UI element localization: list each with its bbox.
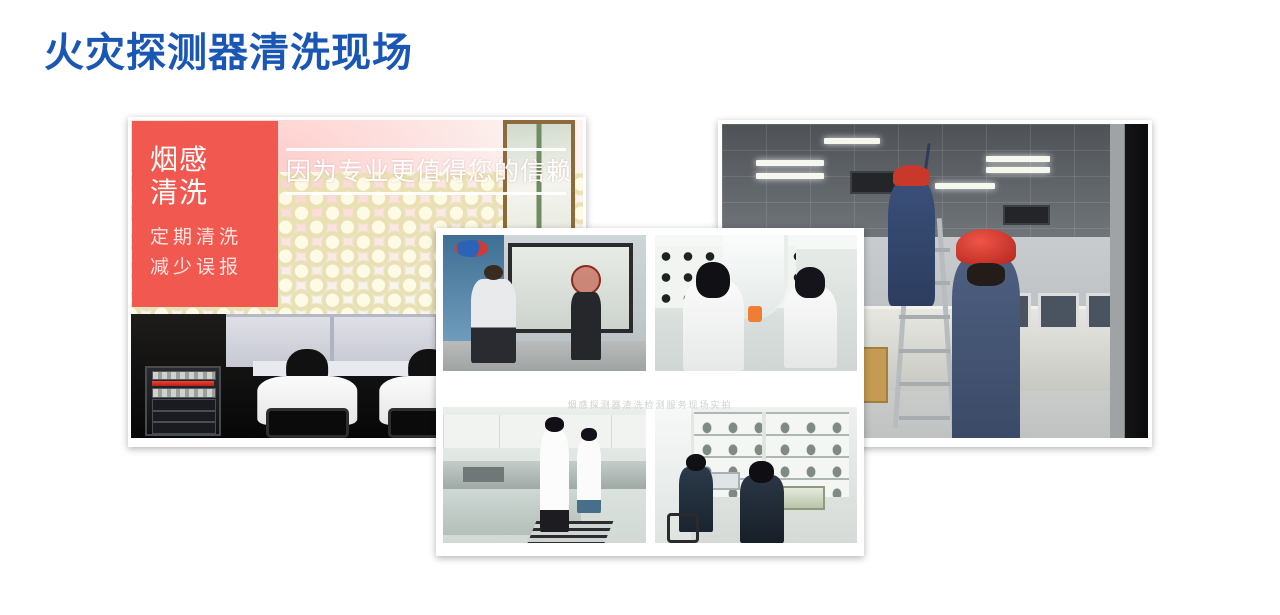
console-display-unit xyxy=(1038,293,1079,331)
ceiling-light xyxy=(756,160,824,166)
worker-helmet xyxy=(893,165,930,185)
worker-background xyxy=(571,292,601,360)
ladder-step xyxy=(899,382,950,386)
company-logo-icon xyxy=(455,240,487,256)
slogan-text: 因为专业更值得您的信赖 xyxy=(286,157,566,187)
grid-photo-storage-shelves-testing[interactable] xyxy=(655,407,858,543)
tester-seated-right xyxy=(740,475,785,543)
ceiling-light xyxy=(935,183,995,189)
door-frame xyxy=(1110,124,1148,438)
worker-with-red-helmet xyxy=(952,259,1020,438)
promo-badge[interactable]: 烟感 清洗 定期清洗 减少误报 xyxy=(132,121,278,307)
cabinet-display-unit xyxy=(152,399,215,410)
promo-headline-line1: 烟感 xyxy=(150,143,278,176)
test-instrument xyxy=(780,486,825,510)
ladder-step xyxy=(899,315,950,319)
promo-headline-line2: 清洗 xyxy=(150,176,278,209)
wall-seal-emblem xyxy=(571,265,601,295)
slogan-overlay: 因为专业更值得您的信赖 xyxy=(286,148,566,195)
ceiling-air-vent xyxy=(1003,205,1050,225)
lab-worker-front xyxy=(540,431,568,532)
operator-seated-left xyxy=(683,281,744,371)
tester-chair xyxy=(667,513,699,543)
laptop-computer xyxy=(709,472,739,490)
slogan-rule-top xyxy=(286,148,566,151)
cabinet-keypad-unit xyxy=(152,422,215,433)
cabinet-button-panel xyxy=(152,388,215,397)
inspector-foreground xyxy=(471,279,516,363)
ladder-step xyxy=(899,349,950,353)
grid-photo-cleaning-bench[interactable] xyxy=(443,407,646,543)
page-title: 火灾探测器清洗现场 xyxy=(44,28,413,78)
cabinet-alarm-strip xyxy=(152,381,213,386)
slogan-rule-bottom xyxy=(286,192,566,195)
ceiling-light xyxy=(824,138,879,144)
promo-subline-2: 减少误报 xyxy=(150,252,278,282)
worker-head xyxy=(967,263,1005,286)
cabinet-display-unit xyxy=(152,411,215,422)
photo-grid xyxy=(443,235,857,543)
ceiling-light xyxy=(986,167,1050,173)
operator-seated-right xyxy=(784,287,837,369)
grid-watermark-text: 烟感探测器清洗检测服务现场实拍 xyxy=(443,398,857,414)
orange-tool xyxy=(748,306,762,322)
lab-worker-back xyxy=(577,440,601,513)
promo-subline-1: 定期清洗 xyxy=(150,222,278,252)
grid-photo-detector-rack-workstation[interactable] xyxy=(655,235,858,371)
technician-chair xyxy=(266,408,350,438)
ladder-step xyxy=(899,416,950,420)
worker-on-ladder xyxy=(888,181,935,307)
red-hard-hat xyxy=(956,229,1016,265)
cabinet-button-panel xyxy=(152,371,215,380)
technician-seated-left xyxy=(258,349,357,438)
ceiling-light xyxy=(986,156,1050,162)
grid-photo-corridor-door-inspection[interactable] xyxy=(443,235,646,371)
photo-grid-collage[interactable]: 烟感探测器清洗检测服务现场实拍 xyxy=(436,228,864,556)
ultrasonic-sink xyxy=(463,467,504,482)
fire-alarm-control-cabinet xyxy=(145,366,222,435)
ceiling-light xyxy=(756,173,824,179)
